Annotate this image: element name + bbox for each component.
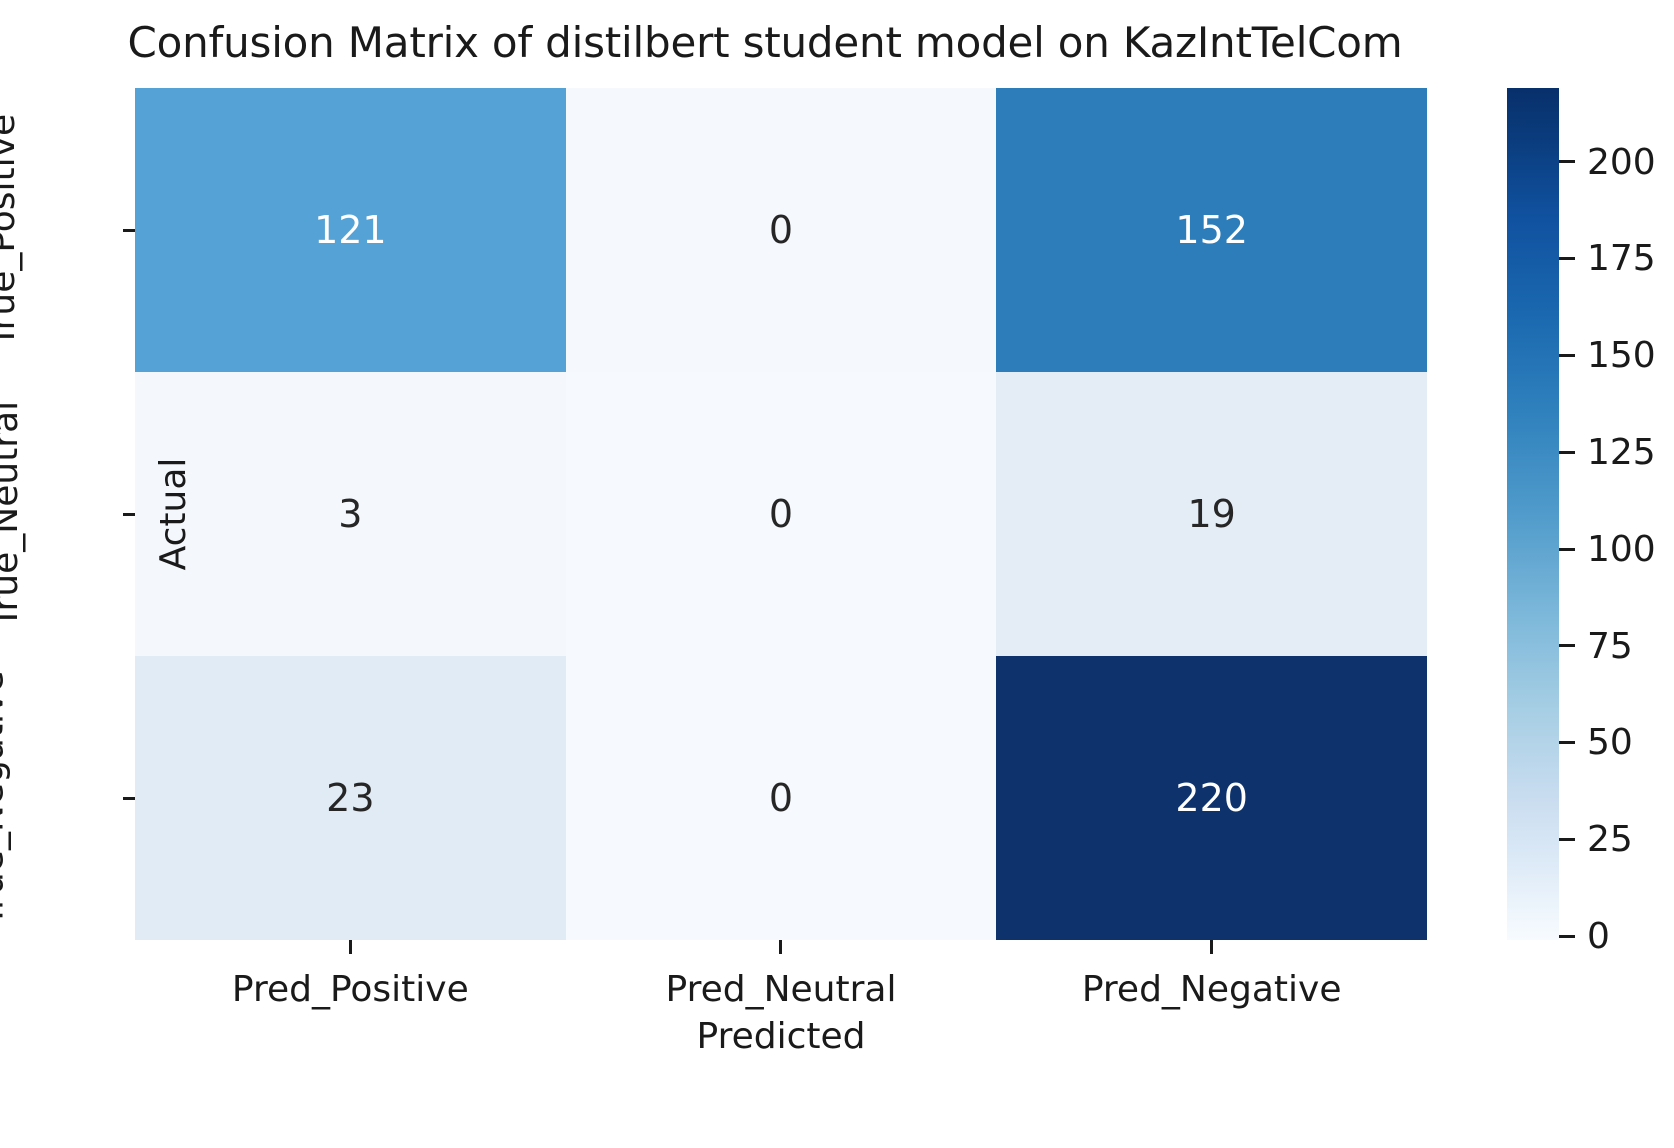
tick-mark-icon bbox=[1559, 451, 1575, 454]
cell-value: 220 bbox=[1175, 779, 1248, 817]
tick-mark-icon bbox=[349, 940, 352, 954]
tick-mark-icon bbox=[1559, 644, 1575, 647]
colorbar[interactable]: 200 175 150 125 100 75 50 25 bbox=[1507, 88, 1559, 940]
chart-page: Confusion Matrix of distilbert student m… bbox=[0, 0, 1674, 1148]
y-axis-label: Actual bbox=[151, 88, 195, 940]
x-tick-label: Pred_Positive bbox=[232, 969, 469, 1010]
heatmap-cell[interactable]: 19 bbox=[996, 372, 1427, 656]
tick-mark-icon bbox=[1559, 257, 1575, 260]
tick-mark-icon bbox=[1559, 160, 1575, 163]
heatmap-cell[interactable]: 23 bbox=[135, 656, 566, 940]
tick-mark-icon bbox=[123, 229, 135, 232]
x-tick-pred-negative: Pred_Negative bbox=[996, 940, 1427, 1010]
cell-value: 3 bbox=[338, 495, 362, 533]
tick-mark-icon bbox=[1559, 548, 1575, 551]
y-tick-label: True_Negative bbox=[0, 670, 11, 926]
colorbar-gradient bbox=[1507, 88, 1559, 940]
x-tick-label: Pred_Negative bbox=[1082, 969, 1342, 1010]
heatmap-cell[interactable]: 3 bbox=[135, 372, 566, 656]
heatmap-plot-area: 121 0 152 3 0 19 23 0 bbox=[135, 88, 1427, 940]
tick-mark-icon bbox=[1559, 741, 1575, 744]
cell-value: 0 bbox=[769, 495, 793, 533]
cell-value: 152 bbox=[1175, 211, 1248, 249]
tick-mark-icon bbox=[123, 797, 135, 800]
y-tick-label: True_Neutral bbox=[0, 400, 26, 627]
heatmap-grid: 121 0 152 3 0 19 23 0 bbox=[135, 88, 1427, 940]
y-tick-label: True_Positive bbox=[0, 113, 23, 346]
x-tick-pred-neutral: Pred_Neutral bbox=[566, 940, 997, 1010]
heatmap-cell[interactable]: 121 bbox=[135, 88, 566, 372]
heatmap-cell[interactable]: 0 bbox=[566, 372, 997, 656]
x-tick-label: Pred_Neutral bbox=[666, 969, 897, 1010]
y-tick-true-positive: True_Positive bbox=[15, 88, 135, 372]
tick-mark-icon bbox=[1559, 935, 1575, 938]
heatmap-cell[interactable]: 220 bbox=[996, 656, 1427, 940]
tick-mark-icon bbox=[123, 513, 135, 516]
cell-value: 0 bbox=[769, 211, 793, 249]
tick-mark-icon bbox=[1210, 940, 1213, 954]
heatmap-cell[interactable]: 152 bbox=[996, 88, 1427, 372]
tick-mark-icon bbox=[779, 940, 782, 954]
cell-value: 19 bbox=[1187, 495, 1235, 533]
tick-mark-icon bbox=[1559, 838, 1575, 841]
x-tick-pred-positive: Pred_Positive bbox=[135, 940, 566, 1010]
page-title: Confusion Matrix of distilbert student m… bbox=[0, 18, 1530, 67]
heatmap-cell[interactable]: 0 bbox=[566, 88, 997, 372]
cell-value: 0 bbox=[769, 779, 793, 817]
tick-mark-icon bbox=[1559, 354, 1575, 357]
y-tick-true-negative: True_Negative bbox=[15, 656, 135, 940]
x-axis-label: Predicted bbox=[135, 1016, 1427, 1057]
heatmap-cell[interactable]: 0 bbox=[566, 656, 997, 940]
y-tick-true-neutral: True_Neutral bbox=[15, 372, 135, 656]
cell-value: 23 bbox=[326, 779, 374, 817]
cell-value: 121 bbox=[314, 211, 387, 249]
